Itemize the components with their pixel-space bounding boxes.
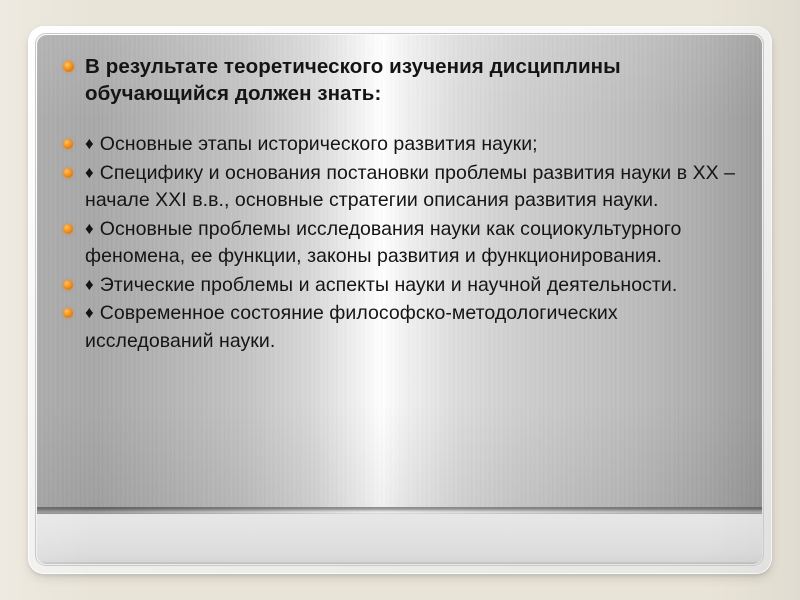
list-item-text: Основные проблемы исследования науки как… — [85, 218, 681, 268]
slide: В результате теоретического изучения дис… — [37, 35, 762, 564]
list-item: ♦Основные проблемы исследования науки ка… — [59, 216, 736, 271]
list-item-text: Этические проблемы и аспекты науки и нау… — [100, 274, 678, 296]
slide-frame: В результате теоретического изучения дис… — [28, 26, 772, 574]
slide-heading: В результате теоретического изучения дис… — [59, 53, 736, 107]
list-item: ♦Современное состояние философско-методо… — [59, 300, 736, 355]
list-item: ♦Специфику и основания постановки пробле… — [59, 160, 736, 215]
bullet-list: ♦Основные этапы исторического развития н… — [59, 131, 736, 355]
presentation-canvas: В результате теоретического изучения дис… — [0, 0, 800, 600]
list-item: ♦Этические проблемы и аспекты науки и на… — [59, 272, 736, 300]
bullet-dot-icon — [63, 61, 74, 72]
bullet-dot-icon — [63, 280, 73, 290]
diamond-icon: ♦ — [85, 164, 94, 181]
bullet-dot-icon — [63, 224, 73, 234]
bullet-dot-icon — [63, 308, 73, 318]
bullet-dot-icon — [63, 168, 73, 178]
diamond-icon: ♦ — [85, 276, 94, 293]
bullet-dot-icon — [63, 139, 73, 149]
diamond-icon: ♦ — [85, 304, 94, 321]
diamond-icon: ♦ — [85, 135, 94, 152]
list-item-text: Основные этапы исторического развития на… — [100, 133, 538, 155]
list-item-text: Современное состояние философско-методол… — [85, 302, 618, 352]
list-item-text: Специфику и основания постановки проблем… — [85, 162, 735, 212]
slide-divider — [37, 507, 762, 514]
slide-footer-band — [37, 514, 762, 564]
diamond-icon: ♦ — [85, 220, 94, 237]
list-item: ♦Основные этапы исторического развития н… — [59, 131, 736, 159]
slide-content: В результате теоретического изучения дис… — [37, 35, 762, 356]
slide-heading-text: В результате теоретического изучения дис… — [85, 55, 621, 105]
